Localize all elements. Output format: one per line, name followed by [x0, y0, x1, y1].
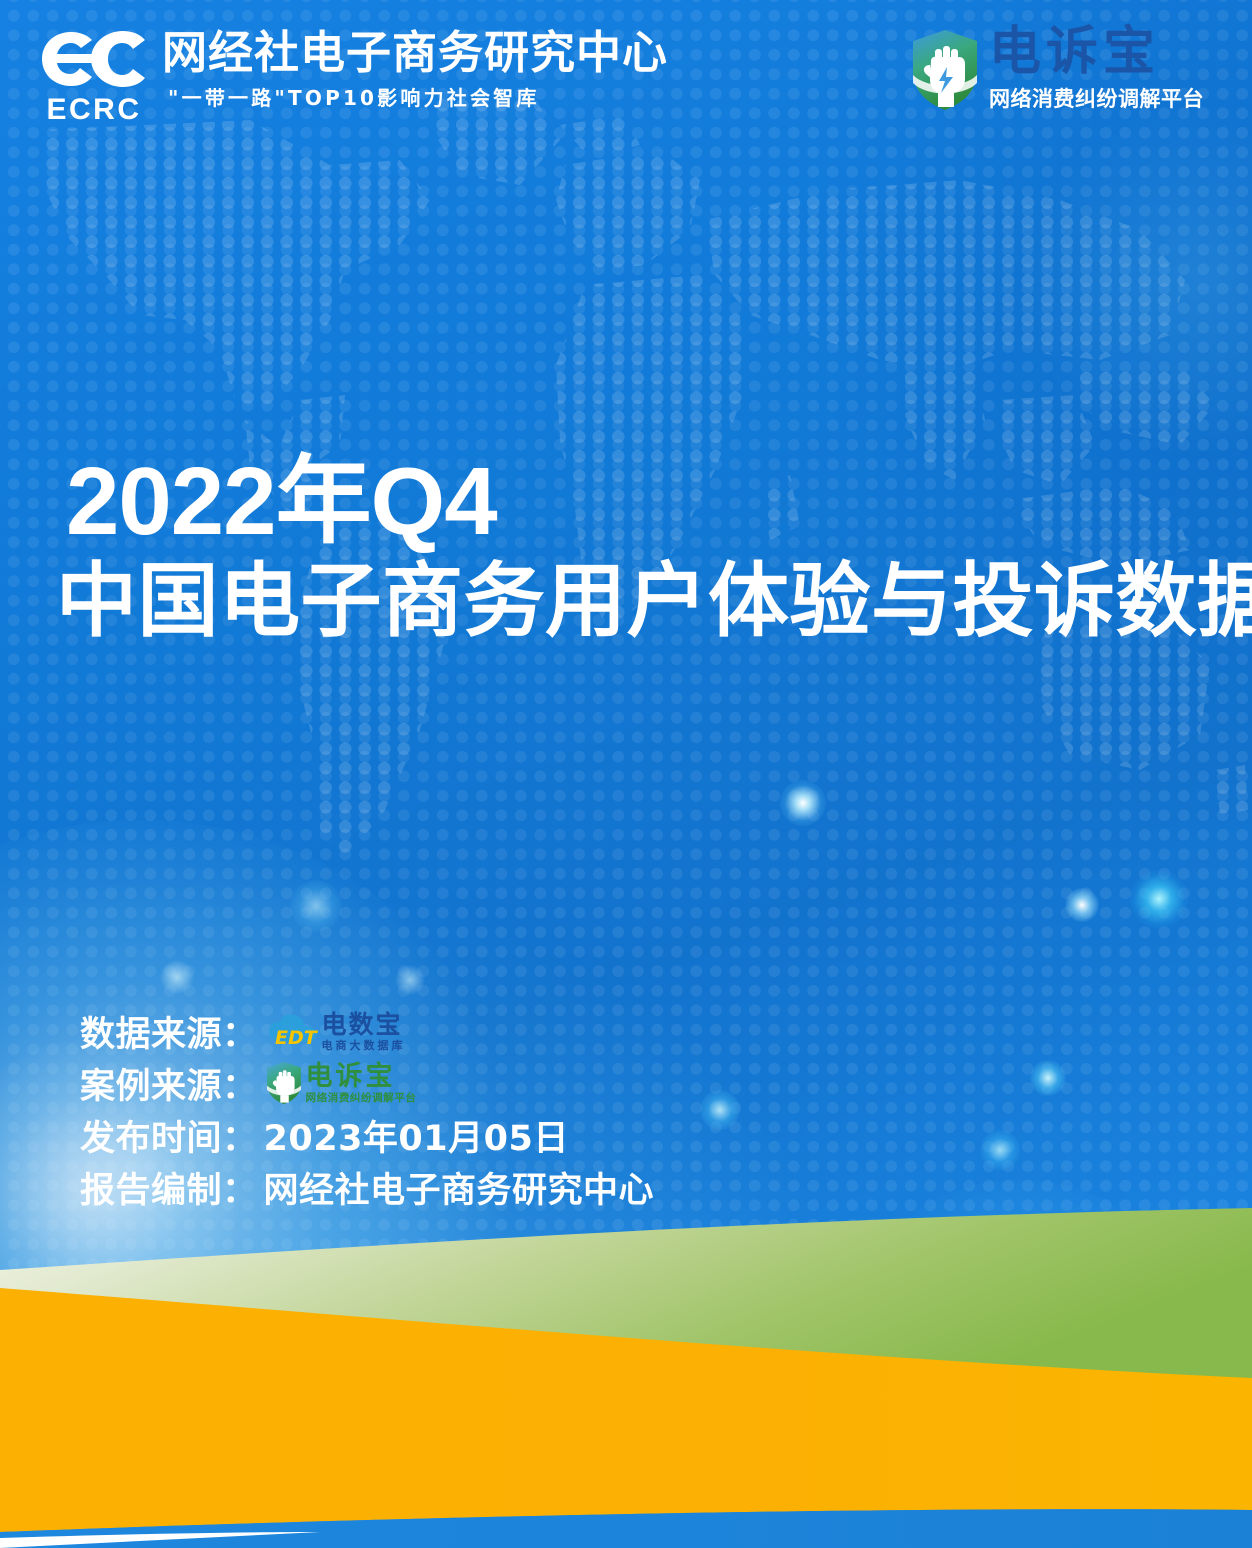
report-cover-page: ECRC 网经社电子商务研究中心 "一带一路"TOP10影响力社会智库	[0, 0, 1252, 1548]
meta-label: 报告编制：	[80, 1162, 258, 1213]
ecrc-org-name: 网经社电子商务研究中心	[162, 30, 668, 76]
dianshubao-brand: 电数宝	[322, 1012, 406, 1037]
diansubao-logo-small: 电诉宝 网络消费纠纷调解平台	[266, 1061, 417, 1105]
svg-text:EDT: EDT	[275, 1027, 319, 1049]
cover-meta-block: 数据来源： EDT 电数宝 电商大数据库 案例来源：	[80, 1005, 654, 1213]
meta-label: 发布时间：	[80, 1110, 258, 1161]
diansubao-brand: 电诉宝	[306, 1063, 417, 1090]
meta-row-case-source: 案例来源：	[80, 1057, 654, 1109]
ecrc-mark: ECRC	[38, 28, 150, 127]
page-header: ECRC 网经社电子商务研究中心 "一带一路"TOP10影响力社会智库	[0, 0, 1252, 150]
report-main-title: 中国电子商务用户体验与投诉数据报告	[56, 557, 1252, 648]
ecrc-tagline: "一带一路"TOP10影响力社会智库	[168, 82, 668, 111]
diansubao-text-block: 电诉宝 网络消费纠纷调解平台	[989, 26, 1204, 113]
meta-row-publish-date: 发布时间： 2023年01月05日	[80, 1109, 654, 1161]
diansubao-small-text-block: 电诉宝 网络消费纠纷调解平台	[306, 1063, 417, 1104]
diansubao-tagline: 网络消费纠纷调解平台	[306, 1093, 417, 1104]
meta-row-publisher: 报告编制： 网经社电子商务研究中心	[80, 1161, 654, 1213]
meta-label: 案例来源：	[80, 1058, 258, 1109]
diansubao-logo: 电诉宝 网络消费纠纷调解平台	[911, 26, 1204, 113]
cover-title-block: 2022年Q4 中国电子商务用户体验与投诉数据报告	[66, 452, 1252, 648]
dianshubao-tagline: 电商大数据库	[322, 1040, 406, 1051]
ecrc-monogram-icon	[38, 77, 150, 94]
ecrc-logo: ECRC 网经社电子商务研究中心 "一带一路"TOP10影响力社会智库	[38, 28, 668, 127]
cloud-edt-icon: EDT	[266, 1011, 320, 1051]
ecrc-text-block: 网经社电子商务研究中心 "一带一路"TOP10影响力社会智库	[162, 30, 668, 111]
meta-row-data-source: 数据来源： EDT 电数宝 电商大数据库	[80, 1005, 654, 1057]
meta-label: 数据来源：	[80, 1006, 258, 1057]
bottom-ribbon-decoration	[0, 1188, 1252, 1548]
shield-fist-icon	[266, 1061, 302, 1105]
dianshubao-logo: EDT 电数宝 电商大数据库	[266, 1011, 406, 1051]
publish-date-value: 2023年01月05日	[264, 1110, 569, 1161]
diansubao-tagline: 网络消费纠纷调解平台	[989, 83, 1204, 113]
report-period-title: 2022年Q4	[66, 452, 1252, 553]
shield-fist-icon	[911, 29, 979, 111]
diansubao-brand: 电诉宝	[989, 26, 1204, 78]
dianshubao-text-block: 电数宝 电商大数据库	[322, 1012, 406, 1051]
publisher-value: 网经社电子商务研究中心	[264, 1162, 655, 1213]
ecrc-acronym: ECRC	[38, 93, 150, 127]
